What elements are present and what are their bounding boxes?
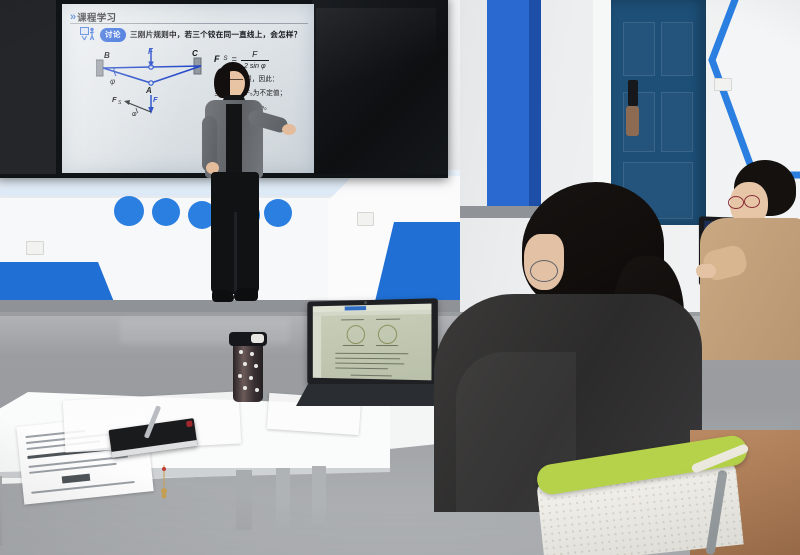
- wall-dot: [114, 196, 144, 226]
- wall-socket-mid[interactable]: [357, 212, 374, 226]
- door-handle[interactable]: [626, 106, 639, 136]
- presenter-right-hand: [282, 124, 296, 135]
- wall-socket-right[interactable]: [714, 78, 732, 91]
- presenter-shoe: [212, 290, 234, 302]
- blue-wall-stripe-shadow: [529, 0, 541, 210]
- hanging-ornament: [161, 465, 167, 499]
- blackboard-glare: [316, 8, 436, 128]
- door-panel: [661, 22, 693, 76]
- classroom-photo: » 课程学习 讨论 三刚片规则中，若三个铰在同一直线上，会怎样？: [0, 0, 800, 555]
- table-leg: [312, 466, 326, 524]
- wall-socket-left[interactable]: [26, 241, 44, 255]
- table-leg: [276, 468, 290, 528]
- observer-front-glasses-icon: [530, 260, 558, 282]
- door-panel: [661, 92, 693, 152]
- observer-right-glasses-icon: [728, 196, 744, 209]
- blue-wall-stripe: [487, 0, 529, 210]
- door-smart-lock-icon[interactable]: [628, 80, 638, 106]
- thermos-cap[interactable]: [229, 332, 267, 346]
- presenter-inner-top: [226, 104, 242, 176]
- presenter: [178, 62, 298, 307]
- presenter-shoe: [234, 288, 258, 301]
- door-panel: [623, 22, 655, 76]
- laptop-webcam-icon: [364, 301, 367, 304]
- chair[interactable]: [518, 450, 758, 555]
- formula-numerator: F: [252, 50, 257, 60]
- blackboard-left-panel: [0, 0, 56, 174]
- thermos-bottle[interactable]: [233, 340, 263, 402]
- table-leg: [0, 476, 2, 546]
- presenter-hair-side: [214, 68, 230, 98]
- observer-right-glasses-icon: [744, 195, 760, 208]
- wall-dot: [152, 198, 180, 226]
- table-leg: [236, 470, 252, 530]
- presenter-trouser-seam: [234, 212, 237, 292]
